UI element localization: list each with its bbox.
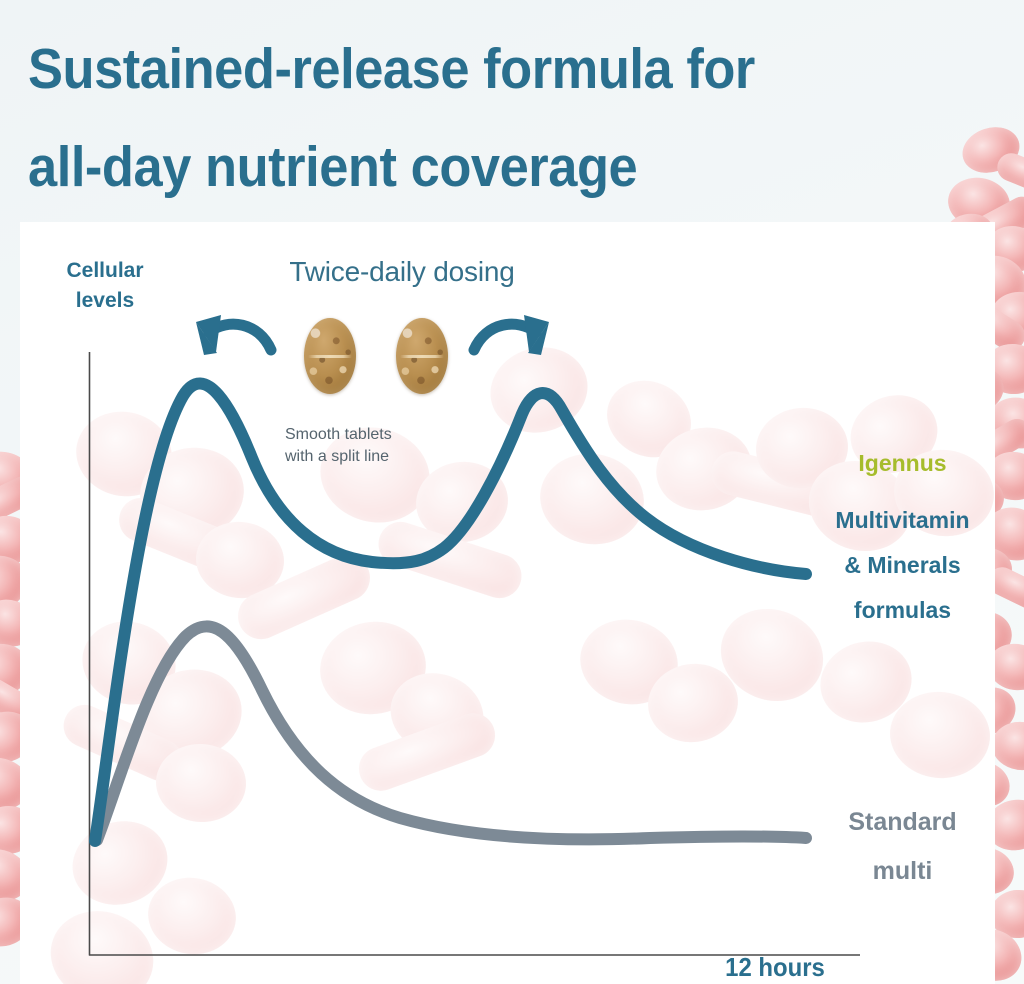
infographic-canvas: Sustained-release formula for all-day nu… [0,0,1024,984]
dosing-caption: Twice-daily dosing [232,256,572,288]
series-standard-multi-line [97,626,806,840]
tablet-icon [396,318,448,394]
curved-arrow-right-icon [474,315,549,355]
legend-brand-name: Igennus [800,452,1005,475]
tablet-caption: Smooth tablets with a split line [285,424,485,468]
x-axis-label: 12 hours [706,952,844,983]
tablet-icon [304,318,356,394]
legend-brand-product: Multivitamin & Minerals formulas [800,498,1005,633]
legend-standard-multi: Standard multi [800,798,1005,896]
y-axis-label: Cellular levels [40,256,170,316]
curved-arrow-left-icon [196,315,271,355]
